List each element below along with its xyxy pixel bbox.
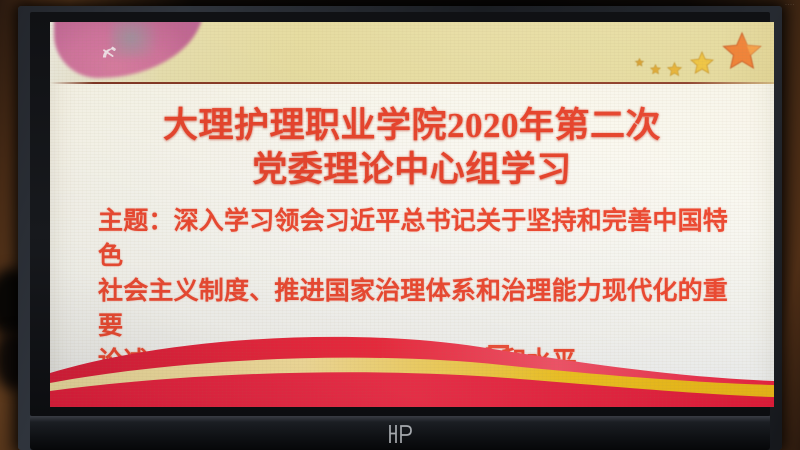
hammer-and-sickle-emblem: [100, 44, 122, 62]
hp-logo-icon: [387, 424, 413, 444]
monitor-bottom-bezel: [30, 416, 770, 450]
ribbon-waves-svg: [50, 321, 774, 407]
slide-title: 大理护理职业学院2020年第二次 党委理论中心组学习: [50, 104, 774, 192]
star-3-icon: [667, 62, 682, 76]
footer-ribbon-decoration: [50, 321, 774, 407]
title-line-1: 大理护理职业学院2020年第二次: [50, 104, 774, 148]
star-5-small-icon: [635, 58, 644, 67]
star-4-icon: [650, 64, 661, 74]
star-1-large-icon: [722, 32, 762, 70]
body-line-1: 主题：深入学习领会习近平总书记关于坚持和完善中国特色: [98, 204, 734, 274]
monitor-bezel: 大理护理职业学院2020年第二次 党委理论中心组学习 主题：深入学习领会习近平总…: [30, 12, 770, 416]
presentation-slide: 大理护理职业学院2020年第二次 党委理论中心组学习 主题：深入学习领会习近平总…: [50, 22, 774, 407]
star-2-icon: [690, 51, 714, 74]
title-line-2: 党委理论中心组学习: [50, 148, 774, 192]
corner-watermark: ····: [785, 2, 795, 8]
header-divider-rule: [50, 82, 774, 84]
photo-scene: 大理护理职业学院2020年第二次 党委理论中心组学习 主题：深入学习领会习近平总…: [0, 0, 800, 450]
monitor: 大理护理职业学院2020年第二次 党委理论中心组学习 主题：深入学习领会习近平总…: [18, 6, 782, 450]
slide-header-band: [50, 22, 774, 84]
